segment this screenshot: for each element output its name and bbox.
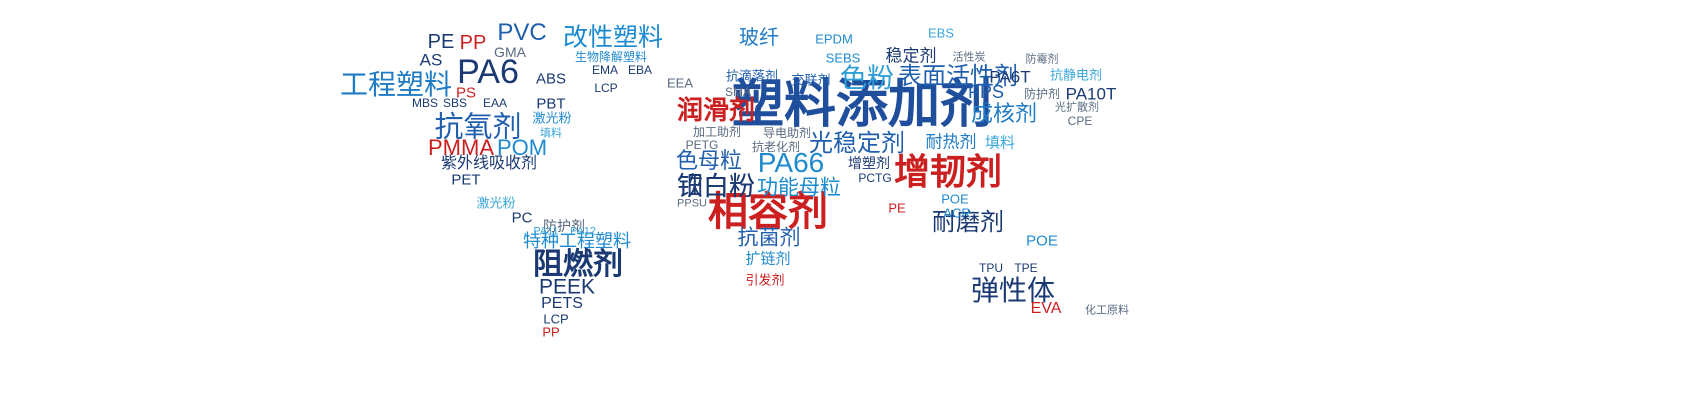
word-cloud-term[interactable]: POE [941, 193, 968, 206]
word-cloud-term[interactable]: EPDM [815, 33, 853, 46]
word-cloud-term[interactable]: PETS [541, 296, 583, 312]
word-cloud-term[interactable]: 钿白粉 [677, 173, 755, 199]
word-cloud-term[interactable]: LCP [594, 82, 617, 94]
word-cloud-term[interactable]: 防霉剂 [1026, 55, 1059, 66]
word-cloud-term[interactable]: 成核剂 [971, 103, 1037, 125]
word-cloud-term[interactable]: 化工原料 [1085, 306, 1129, 317]
word-cloud-term[interactable]: 抗菌剂 [738, 228, 801, 249]
word-cloud-term[interactable]: SBS [443, 97, 467, 109]
word-cloud-term[interactable]: EMA [592, 64, 618, 76]
word-cloud-term[interactable]: 润滑剂 [677, 97, 755, 123]
word-cloud-term[interactable]: PA10T [1066, 86, 1117, 103]
word-cloud-term[interactable]: 活性炭 [953, 53, 986, 64]
word-cloud-term[interactable]: 色母粒 [676, 150, 742, 172]
word-cloud-term[interactable]: PPSU [677, 199, 707, 210]
word-cloud-term[interactable]: PA11 [533, 227, 558, 238]
word-cloud-canvas: 塑料添加剂相容剂增韧剂阻燃剂工程塑料抗氧剂PA6改性塑料润滑剂表面活性剂色粉光稳… [0, 0, 1707, 400]
word-cloud-term[interactable]: 扩链剂 [745, 252, 790, 267]
word-cloud-term[interactable]: 交联剂 [791, 74, 830, 87]
word-cloud-term[interactable]: AS [420, 52, 443, 69]
word-cloud-term[interactable]: 抗滴落剂 [726, 70, 778, 83]
word-cloud-term[interactable]: PE [888, 202, 905, 215]
word-cloud-term[interactable]: PETG [686, 139, 719, 151]
word-cloud-term[interactable]: 导电助剂 [763, 127, 811, 139]
word-cloud-term[interactable]: PMMA [428, 137, 494, 159]
word-cloud-term[interactable]: 改性塑料 [563, 26, 663, 51]
word-cloud-term[interactable]: 光扩散剂 [1055, 103, 1099, 114]
word-cloud-term[interactable]: GMA [494, 45, 526, 59]
word-cloud-term[interactable]: PET [451, 173, 480, 188]
word-cloud-term[interactable]: TPE [1014, 262, 1037, 274]
word-cloud-term[interactable]: PC [512, 211, 533, 226]
word-cloud-term[interactable]: POE [1026, 234, 1058, 249]
word-cloud-term[interactable]: CPE [1068, 115, 1093, 127]
word-cloud-term[interactable]: EBA [628, 64, 652, 76]
word-cloud-term[interactable]: PPS [968, 83, 1004, 101]
word-cloud-term[interactable]: TPU [979, 262, 1003, 274]
word-cloud-term[interactable]: PE [428, 32, 455, 52]
word-cloud-term[interactable]: PP [542, 326, 559, 339]
word-cloud-term[interactable]: 生物降解塑料 [575, 51, 647, 63]
word-cloud-term[interactable]: PVC [497, 21, 546, 45]
word-cloud-term[interactable]: 填料 [985, 136, 1015, 151]
word-cloud-term[interactable]: POM [497, 137, 547, 159]
word-cloud-term[interactable]: 抗老化剂 [752, 141, 800, 153]
word-cloud-term[interactable]: 激光粉 [532, 112, 571, 125]
word-cloud-term[interactable]: 工程塑料 [340, 71, 452, 99]
word-cloud-term[interactable]: EVA [1031, 301, 1062, 317]
word-cloud-term[interactable]: 激光粉 [476, 197, 515, 210]
word-cloud-term[interactable]: PA12 [570, 227, 596, 238]
word-cloud-term[interactable]: 色粉 [840, 66, 894, 93]
word-cloud-term[interactable]: MBS [412, 97, 438, 109]
word-cloud-term[interactable]: 加工助剂 [693, 126, 741, 138]
word-cloud-term[interactable]: 增韧剂 [894, 154, 1002, 190]
word-cloud-term[interactable]: EEA [667, 77, 693, 90]
word-cloud-term[interactable]: 玻纤 [739, 28, 779, 48]
word-cloud-term[interactable]: PBT [536, 97, 565, 112]
word-cloud-term[interactable]: ABS [536, 72, 566, 87]
word-cloud-term[interactable]: 引发剂 [745, 274, 784, 287]
word-cloud-term[interactable]: SMA [725, 86, 751, 98]
word-cloud-term[interactable]: ACR [943, 207, 970, 220]
word-cloud-term[interactable]: 填料 [540, 129, 562, 140]
word-cloud-term[interactable]: 耐热剂 [926, 134, 977, 151]
word-cloud-term[interactable]: 稳定剂 [886, 48, 937, 65]
word-cloud-term[interactable]: EAA [483, 97, 507, 109]
word-cloud-term[interactable]: 抗静电剂 [1050, 69, 1102, 82]
word-cloud-term[interactable]: PP [460, 33, 487, 53]
word-cloud-term[interactable]: 增塑剂 [848, 156, 890, 170]
word-cloud-term[interactable]: 防护剂 [1024, 88, 1060, 100]
word-cloud-term[interactable]: EBS [928, 27, 954, 40]
word-cloud-term[interactable]: SEBS [826, 52, 861, 65]
word-cloud-term[interactable]: PCTG [858, 172, 891, 184]
word-cloud-term[interactable]: 功能母粒 [757, 178, 841, 199]
